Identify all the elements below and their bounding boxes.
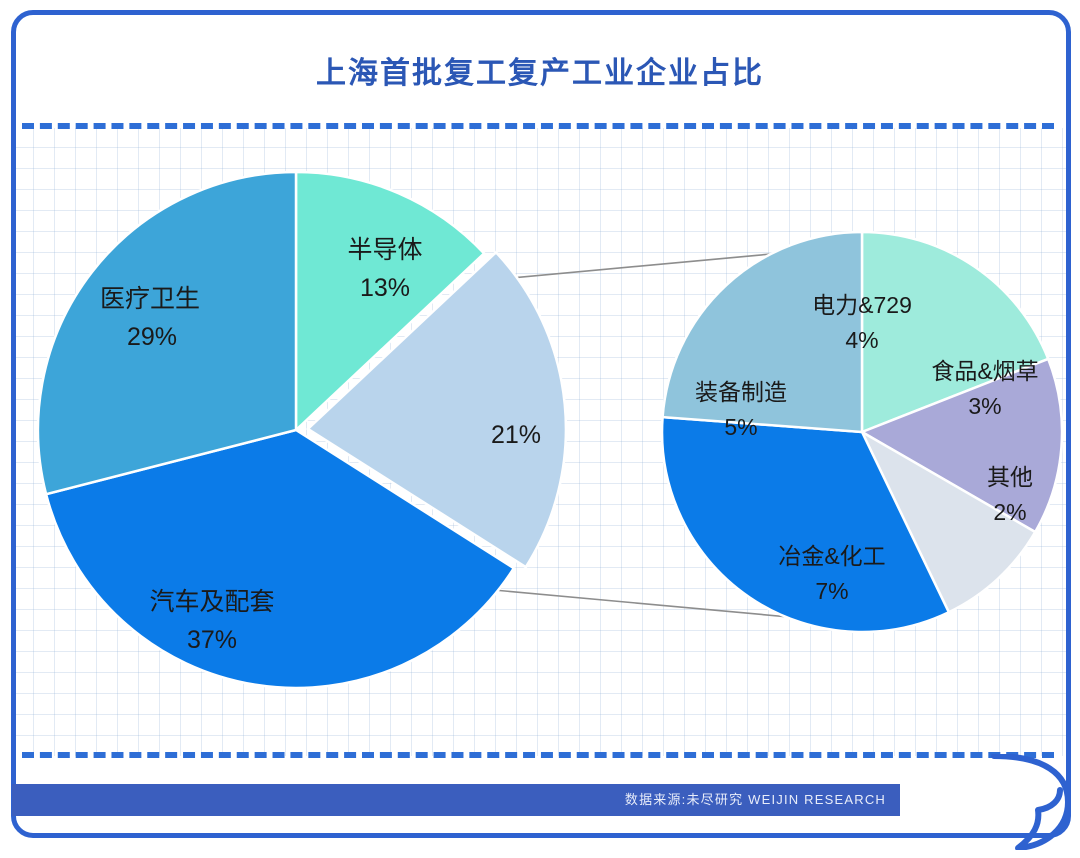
- infographic-canvas: 上海首批复工复产工业企业占比 医疗卫生 29% 半导体 13% 21% 汽车及配…: [0, 0, 1080, 858]
- breakout-pct-equipment: 5%: [724, 414, 757, 440]
- source-text: 数据来源:未尽研究 WEIJIN RESEARCH: [625, 784, 886, 816]
- folded-corner-icon: [988, 754, 1074, 850]
- main-pie: 医疗卫生 29% 半导体 13% 21% 汽车及配套 37%: [38, 172, 566, 688]
- breakout-pct-metallurgy-chemical: 7%: [815, 578, 848, 604]
- breakout-pct-others: 2%: [993, 499, 1026, 525]
- source-bar: 数据来源:未尽研究 WEIJIN RESEARCH: [12, 784, 900, 816]
- breakout-label-others: 其他: [987, 464, 1033, 490]
- pie-chart-group: 医疗卫生 29% 半导体 13% 21% 汽车及配套 37% 电力&729 4%…: [0, 0, 1080, 858]
- breakout-label-equipment: 装备制造: [695, 379, 787, 405]
- main-label-automotive: 汽车及配套: [149, 588, 274, 616]
- breakout-pie: 电力&729 4% 食品&烟草 3% 其他 2% 冶金&化工 7% 装备制造 5…: [662, 232, 1062, 632]
- main-label-semiconductor: 半导体: [347, 236, 422, 264]
- main-pct-medical: 29%: [127, 323, 177, 351]
- main-pct-breakout: 21%: [491, 421, 541, 449]
- breakout-pct-power: 4%: [845, 327, 878, 353]
- main-pct-automotive: 37%: [187, 626, 237, 654]
- breakout-label-metallurgy-chemical: 冶金&化工: [778, 543, 885, 569]
- main-pct-semiconductor: 13%: [360, 274, 410, 302]
- breakout-label-power: 电力&729: [812, 292, 912, 318]
- main-label-medical: 医疗卫生: [100, 285, 200, 313]
- breakout-label-food-tobacco: 食品&烟草: [931, 358, 1038, 384]
- breakout-pct-food-tobacco: 3%: [968, 393, 1001, 419]
